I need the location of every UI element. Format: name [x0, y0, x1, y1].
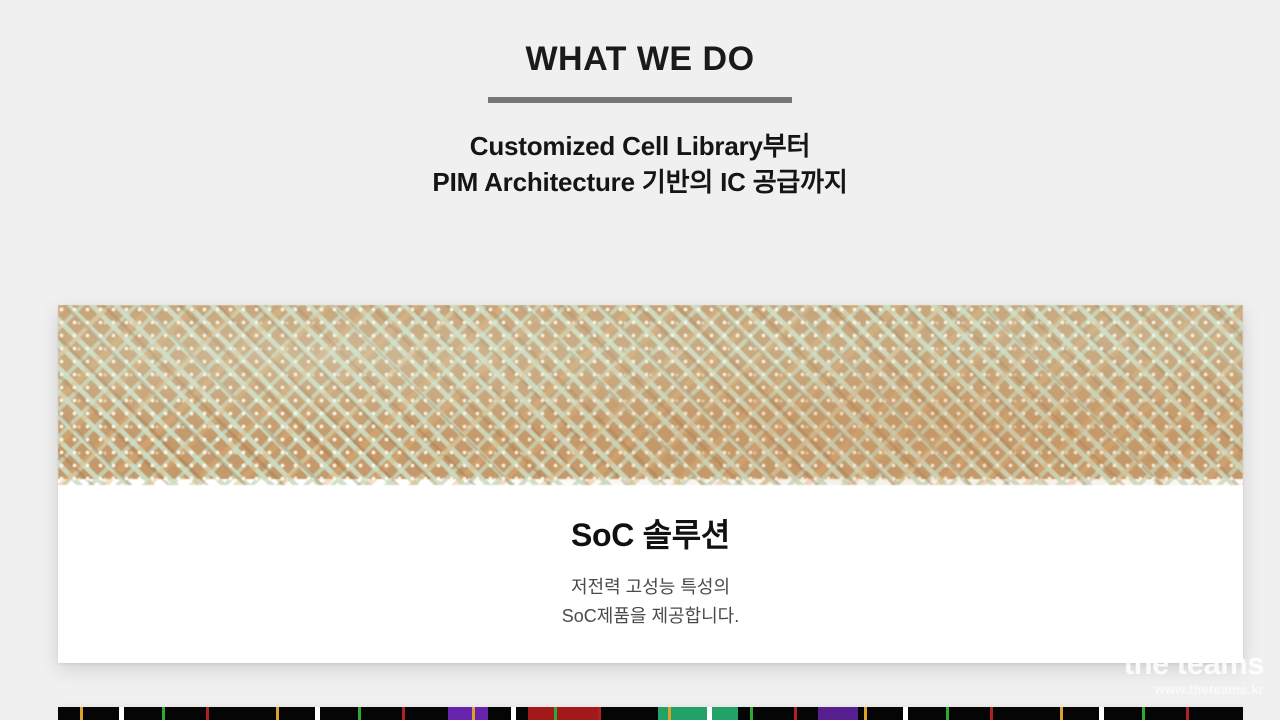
- circuit-board-photo: [58, 707, 1243, 720]
- circuit-traces: [58, 707, 1243, 720]
- card-description-line-2: SoC제품을 제공합니다.: [562, 606, 740, 626]
- card-body: SoC 솔루션 저전력 고성능 특성의 SoC제품을 제공합니다.: [58, 479, 1243, 631]
- card-description-line-1: 저전력 고성능 특성의: [571, 577, 730, 597]
- card-description: 저전력 고성능 특성의 SoC제품을 제공합니다.: [58, 554, 1243, 631]
- subtitle-line-2: PIM Architecture 기반의 IC 공급까지: [432, 167, 847, 197]
- page-subtitle: Customized Cell Library부터 PIM Architectu…: [0, 103, 1280, 201]
- card-next-partial[interactable]: [58, 707, 1243, 720]
- card-title: SoC 솔루션: [58, 516, 1243, 554]
- card-soc-solution[interactable]: SoC 솔루션 저전력 고성능 특성의 SoC제품을 제공합니다.: [58, 305, 1243, 663]
- semiconductor-die-photo: [58, 305, 1243, 479]
- watermark-url: www.theteams.kr: [1124, 679, 1264, 696]
- page-header: WHAT WE DO Customized Cell Library부터 PIM…: [0, 0, 1280, 201]
- page-title: WHAT WE DO: [0, 0, 1280, 78]
- subtitle-line-1: Customized Cell Library부터: [470, 131, 810, 161]
- die-blur-haze-layer: [58, 305, 1243, 485]
